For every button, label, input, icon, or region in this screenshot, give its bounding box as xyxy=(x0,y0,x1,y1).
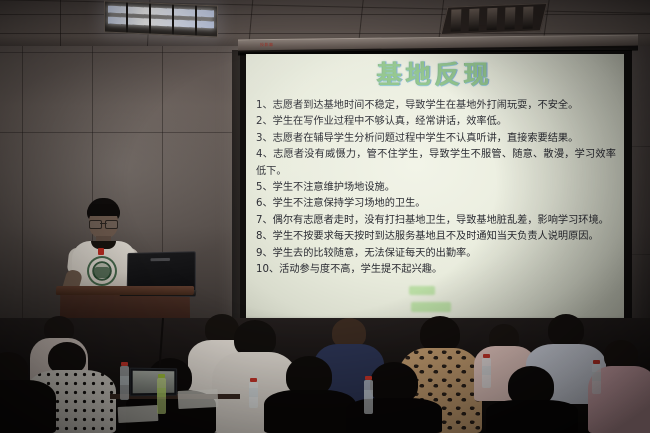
paper-document xyxy=(118,405,159,423)
audience-laptop xyxy=(130,368,178,397)
water-bottle xyxy=(482,354,491,388)
water-bottle xyxy=(157,374,166,414)
slide-body: 1、志愿者到达基地时间不稳定，导致学生在基地外打闹玩耍，不安全。 2、学生在写作… xyxy=(256,98,616,278)
slide-line: 10、活动参与度不高，学生提不起兴趣。 xyxy=(256,262,616,278)
slide-title: 基地反现 xyxy=(246,62,624,87)
presenter-fringe xyxy=(87,204,120,216)
slide-line: 8、学生不按要求每天按时到达服务基地且不及时通知当天负责人说明原因。 xyxy=(256,229,616,245)
slide-highlight-mark xyxy=(409,286,435,295)
red-badge-icon xyxy=(98,248,104,255)
water-bottle xyxy=(592,360,601,394)
slide-line: 1、志愿者到达基地时间不稳定，导致学生在基地外打闹玩耍，不安全。 xyxy=(256,98,616,114)
eyeglasses-icon xyxy=(89,220,118,227)
slide-line: 2、学生在写作业过程中不够认真，经常讲话，效率低。 xyxy=(256,114,616,130)
projection-screen: 基地反现 1、志愿者到达基地时间不稳定，导致学生在基地外打闹玩耍，不安全。 2、… xyxy=(246,54,624,330)
slide-line: 7、偶尔有志愿者走时，没有打扫基地卫生，导致基地脏乱差，影响学习环境。 xyxy=(256,213,616,229)
ceiling-fluorescent-troffer xyxy=(104,1,218,38)
slide-line: 9、学生去的比较随意，无法保证每天的出勤率。 xyxy=(256,246,616,262)
seated-audience xyxy=(0,318,650,433)
ceiling-air-vent xyxy=(441,3,548,35)
water-bottle xyxy=(364,376,373,414)
tshirt-logo-icon xyxy=(87,256,117,286)
slide-line: 5、学生不注意维护场地设施。 xyxy=(256,180,616,196)
slide-line: 6、学生不注意保持学习场地的卫生。 xyxy=(256,196,616,212)
lectern-top xyxy=(56,286,194,295)
water-bottle xyxy=(249,378,258,408)
paper-document xyxy=(178,389,219,409)
water-bottle xyxy=(120,362,129,400)
slide-highlight-mark xyxy=(411,302,451,312)
slide-line: 3、志愿者在辅导学生分析问题过程中学生不认真听讲，直接索要结果。 xyxy=(256,131,616,147)
slide-line: 4、志愿者没有威慑力，管不住学生，导致学生不服管、随意、散漫，学习效率低下。 xyxy=(256,147,616,180)
photo-scene: 投影幕 基地反现 1、志愿者到达基地时间不稳定，导致学生在基地外打闹玩耍，不安全… xyxy=(0,0,650,433)
roller-brand-label: 投影幕 xyxy=(260,42,274,48)
